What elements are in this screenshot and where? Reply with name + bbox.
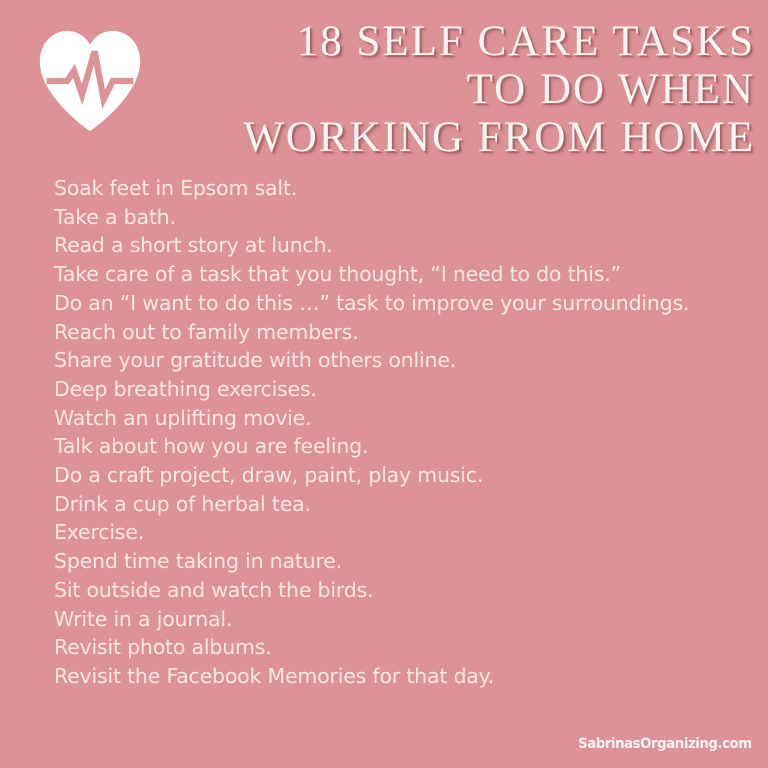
list-item: Read a short story at lunch.	[54, 231, 714, 260]
site-watermark: SabrinasOrganizing.com	[578, 736, 752, 752]
list-item: Take a bath.	[54, 203, 714, 232]
list-item: Share your gratitude with others online.	[54, 346, 714, 375]
list-item: Deep breathing exercises.	[54, 375, 714, 404]
list-item: Talk about how you are feeling.	[54, 432, 714, 461]
list-item: Write in a journal.	[54, 605, 714, 634]
page-title: 18 Self Care Tasks To Do When Working Fr…	[235, 18, 755, 162]
title-line-3: Working From Home	[235, 114, 755, 162]
list-item: Reach out to family members.	[54, 318, 714, 347]
list-item: Soak feet in Epsom salt.	[54, 174, 714, 203]
poster-canvas: 18 Self Care Tasks To Do When Working Fr…	[0, 0, 768, 768]
list-item: Do an “I want to do this …” task to impr…	[54, 289, 714, 318]
list-item: Spend time taking in nature.	[54, 547, 714, 576]
list-item: Revisit photo albums.	[54, 633, 714, 662]
title-line-1: 18 Self Care Tasks	[235, 18, 755, 66]
task-list: Soak feet in Epsom salt. Take a bath. Re…	[54, 174, 754, 691]
heart-pulse-icon	[33, 24, 147, 138]
list-item: Revisit the Facebook Memories for that d…	[54, 662, 714, 691]
list-item: Take care of a task that you thought, “I…	[54, 260, 714, 289]
list-item: Exercise.	[54, 518, 714, 547]
list-item: Drink a cup of herbal tea.	[54, 490, 714, 519]
list-item: Sit outside and watch the birds.	[54, 576, 714, 605]
list-item: Do a craft project, draw, paint, play mu…	[54, 461, 714, 490]
title-line-2: To Do When	[235, 66, 755, 114]
poster-header: 18 Self Care Tasks To Do When Working Fr…	[0, 0, 768, 170]
list-item: Watch an uplifting movie.	[54, 404, 714, 433]
